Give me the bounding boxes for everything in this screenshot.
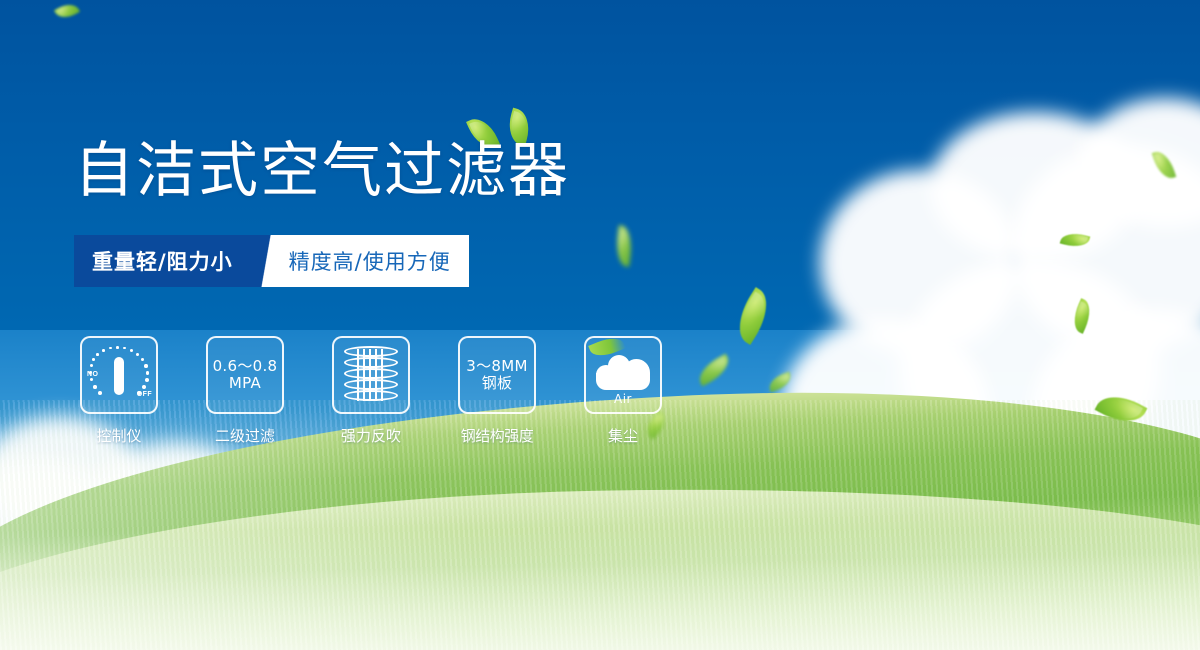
badge-primary: 重量轻/阻力小 — [74, 235, 253, 287]
steel-thickness: 3～8MM — [466, 358, 527, 375]
feature-item-steel[interactable]: 3～8MM 钢板 钢结构强度 — [458, 336, 536, 446]
air-cloud-icon: Air — [592, 347, 654, 403]
air-label: Air — [592, 392, 654, 406]
feature-item-controller[interactable]: NO OFF 控制仪 — [80, 336, 158, 446]
feature-label: 钢结构强度 — [461, 425, 534, 446]
pressure-unit: MPA — [213, 375, 278, 392]
product-hero-banner: 自洁式空气过滤器 重量轻/阻力小 精度高/使用方便 — [0, 0, 1200, 650]
dial-off-label: OFF — [137, 391, 152, 398]
feature-label: 控制仪 — [96, 425, 141, 446]
feature-label: 二级过滤 — [215, 425, 275, 446]
feature-icon-box: NO OFF — [80, 336, 158, 414]
feature-item-backblow[interactable]: 强力反吹 — [332, 336, 410, 446]
feature-icon-box: Air — [584, 336, 662, 414]
pressure-text-icon: 0.6～0.8 MPA — [213, 358, 278, 392]
feature-item-pressure[interactable]: 0.6～0.8 MPA 二级过滤 — [206, 336, 284, 446]
steel-material: 钢板 — [466, 375, 527, 392]
feature-icon-box — [332, 336, 410, 414]
badge-divider — [253, 235, 283, 287]
feature-item-dust[interactable]: Air 集尘 — [584, 336, 662, 446]
feature-label: 强力反吹 — [341, 425, 401, 446]
cloud-base — [596, 373, 650, 390]
feature-icon-box: 3～8MM 钢板 — [458, 336, 536, 414]
feature-label: 集尘 — [608, 425, 638, 446]
feature-list: NO OFF 控制仪 0.6～0.8 MPA 二级过滤 — [80, 336, 662, 446]
gauge-dial-icon: NO OFF — [87, 343, 151, 407]
dial-on-label: NO — [87, 371, 98, 378]
pressure-value: 0.6～0.8 — [213, 358, 278, 375]
content-layer: 自洁式空气过滤器 重量轻/阻力小 精度高/使用方便 — [0, 0, 1200, 650]
filter-cartridge-icon — [344, 346, 398, 404]
page-title: 自洁式空气过滤器 — [74, 141, 570, 201]
dial-pointer — [114, 357, 124, 395]
feature-icon-box: 0.6～0.8 MPA — [206, 336, 284, 414]
tagline-badges: 重量轻/阻力小 精度高/使用方便 — [74, 235, 469, 287]
badge-secondary: 精度高/使用方便 — [283, 235, 469, 287]
steel-plate-text-icon: 3～8MM 钢板 — [466, 358, 527, 392]
